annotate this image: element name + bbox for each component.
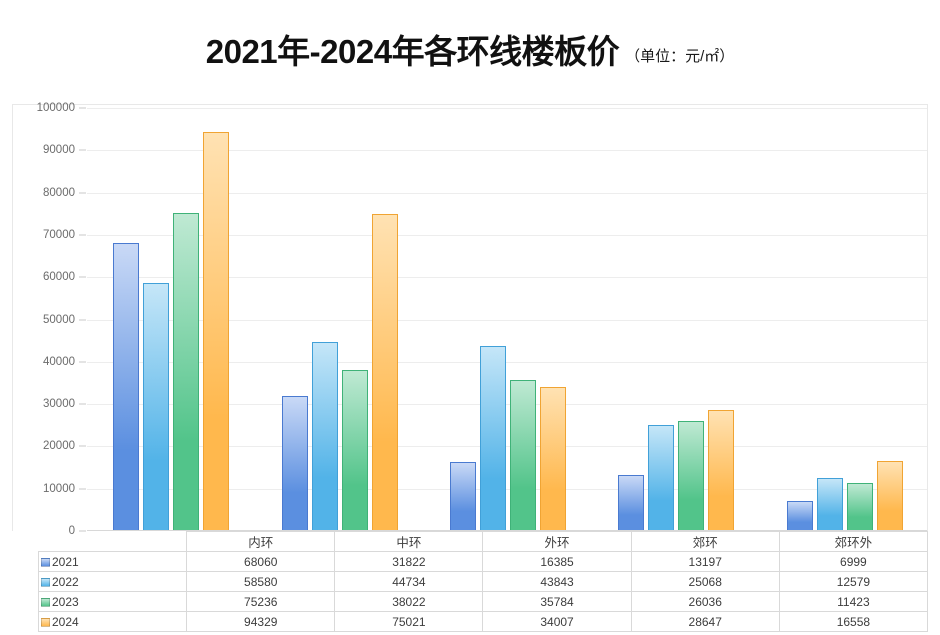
y-axis-tick-label: 10000 bbox=[13, 483, 75, 495]
bar-2023-外环[interactable] bbox=[510, 380, 536, 531]
table-cell-value: 34007 bbox=[483, 612, 631, 632]
table-body: 2021680603182216385131976999202258580447… bbox=[39, 552, 928, 632]
table-cell-value: 25068 bbox=[631, 572, 779, 592]
table-cell-value: 58580 bbox=[187, 572, 335, 592]
bar-2024-郊环[interactable] bbox=[708, 410, 734, 531]
table-cell-value: 12579 bbox=[779, 572, 927, 592]
legend-item-2024[interactable]: 2024 bbox=[39, 612, 187, 632]
table-cell-value: 13197 bbox=[631, 552, 779, 572]
y-axis-tick-label: 70000 bbox=[13, 229, 75, 241]
bar-2022-郊环[interactable] bbox=[648, 425, 674, 531]
legend-swatch-icon bbox=[41, 618, 50, 627]
table-header-row: 内环中环外环郊环郊环外 bbox=[39, 532, 928, 552]
bar-group bbox=[87, 105, 255, 531]
legend-series-label: 2021 bbox=[52, 555, 79, 569]
table-column-header: 郊环 bbox=[631, 532, 779, 552]
y-axis-tick-mark bbox=[79, 277, 86, 278]
bar-2023-郊环[interactable] bbox=[678, 421, 704, 531]
bar-group bbox=[592, 105, 760, 531]
bar-2021-内环[interactable] bbox=[113, 243, 139, 531]
table-column-header: 内环 bbox=[187, 532, 335, 552]
bar-2024-郊环外[interactable] bbox=[877, 461, 903, 531]
table-cell-value: 11423 bbox=[779, 592, 927, 612]
table-cell-value: 31822 bbox=[335, 552, 483, 572]
table-row: 2021680603182216385131976999 bbox=[39, 552, 928, 572]
legend-item-2022[interactable]: 2022 bbox=[39, 572, 187, 592]
y-axis-tick-mark bbox=[79, 319, 86, 320]
bar-2023-内环[interactable] bbox=[173, 213, 199, 531]
legend-series-label: 2024 bbox=[52, 615, 79, 629]
table-column-header: 中环 bbox=[335, 532, 483, 552]
legend-item-2023[interactable]: 2023 bbox=[39, 592, 187, 612]
table-row: 20225858044734438432506812579 bbox=[39, 572, 928, 592]
legend-item-2021[interactable]: 2021 bbox=[39, 552, 187, 572]
table-cell-value: 44734 bbox=[335, 572, 483, 592]
table-column-header: 郊环外 bbox=[779, 532, 927, 552]
bars-plot-area bbox=[87, 105, 927, 531]
table-cell-value: 16385 bbox=[483, 552, 631, 572]
page-title: 2021年-2024年各环线楼板价 bbox=[206, 25, 619, 73]
bar-2022-内环[interactable] bbox=[143, 283, 169, 531]
y-axis-tick-mark bbox=[79, 488, 86, 489]
y-axis-tick-label: 30000 bbox=[13, 398, 75, 410]
table-head: 内环中环外环郊环郊环外 bbox=[39, 532, 928, 552]
bar-2021-中环[interactable] bbox=[282, 396, 308, 531]
table-cell-value: 94329 bbox=[187, 612, 335, 632]
y-axis-tick-mark bbox=[79, 192, 86, 193]
y-axis-tick-label: 40000 bbox=[13, 356, 75, 368]
y-axis-tick-label: 20000 bbox=[13, 440, 75, 452]
legend-series-label: 2022 bbox=[52, 575, 79, 589]
chart-unit-subtitle: （单位：元/㎡） bbox=[625, 45, 734, 66]
bar-group bbox=[255, 105, 423, 531]
bar-2024-中环[interactable] bbox=[372, 214, 398, 531]
chart-plot-panel: 0100002000030000400005000060000700008000… bbox=[12, 104, 928, 531]
y-axis-tick-label: 80000 bbox=[13, 187, 75, 199]
table-row: 20249432975021340072864716558 bbox=[39, 612, 928, 632]
bar-2021-郊环外[interactable] bbox=[787, 501, 813, 531]
legend-swatch-icon bbox=[41, 578, 50, 587]
table-cell-value: 68060 bbox=[187, 552, 335, 572]
y-axis-tick-label: 50000 bbox=[13, 314, 75, 326]
table-row: 20237523638022357842603611423 bbox=[39, 592, 928, 612]
y-axis-tick-mark bbox=[79, 108, 86, 109]
bar-2022-外环[interactable] bbox=[480, 346, 506, 531]
table-cell-value: 26036 bbox=[631, 592, 779, 612]
y-axis-tick-label: 90000 bbox=[13, 144, 75, 156]
bar-2022-郊环外[interactable] bbox=[817, 478, 843, 531]
bar-2023-郊环外[interactable] bbox=[847, 483, 873, 531]
table-cell-value: 16558 bbox=[779, 612, 927, 632]
y-axis-tick-mark bbox=[79, 150, 86, 151]
table-cell-value: 43843 bbox=[483, 572, 631, 592]
chart-data-table: 内环中环外环郊环郊环外 2021680603182216385131976999… bbox=[38, 531, 928, 632]
y-axis-tick-mark bbox=[79, 446, 86, 447]
bar-2024-外环[interactable] bbox=[540, 387, 566, 531]
legend-corner-cell bbox=[39, 532, 187, 552]
table-cell-value: 75021 bbox=[335, 612, 483, 632]
bar-2024-内环[interactable] bbox=[203, 132, 229, 531]
chart-header: 2021年-2024年各环线楼板价 （单位：元/㎡） bbox=[0, 0, 940, 92]
table-cell-value: 6999 bbox=[779, 552, 927, 572]
legend-swatch-icon bbox=[41, 558, 50, 567]
bar-2023-中环[interactable] bbox=[342, 370, 368, 531]
table-cell-value: 38022 bbox=[335, 592, 483, 612]
table-column-header: 外环 bbox=[483, 532, 631, 552]
bar-group bbox=[761, 105, 929, 531]
y-axis-tick-mark bbox=[79, 361, 86, 362]
table-cell-value: 28647 bbox=[631, 612, 779, 632]
bar-2021-外环[interactable] bbox=[450, 462, 476, 531]
bar-2021-郊环[interactable] bbox=[618, 475, 644, 531]
y-axis-tick-mark bbox=[79, 404, 86, 405]
table-cell-value: 35784 bbox=[483, 592, 631, 612]
legend-series-label: 2023 bbox=[52, 595, 79, 609]
legend-swatch-icon bbox=[41, 598, 50, 607]
bar-2022-中环[interactable] bbox=[312, 342, 338, 531]
table-cell-value: 75236 bbox=[187, 592, 335, 612]
y-axis-tick-mark bbox=[79, 234, 86, 235]
y-axis-tick-label: 60000 bbox=[13, 271, 75, 283]
bar-group bbox=[424, 105, 592, 531]
y-axis-tick-label: 100000 bbox=[13, 102, 75, 114]
